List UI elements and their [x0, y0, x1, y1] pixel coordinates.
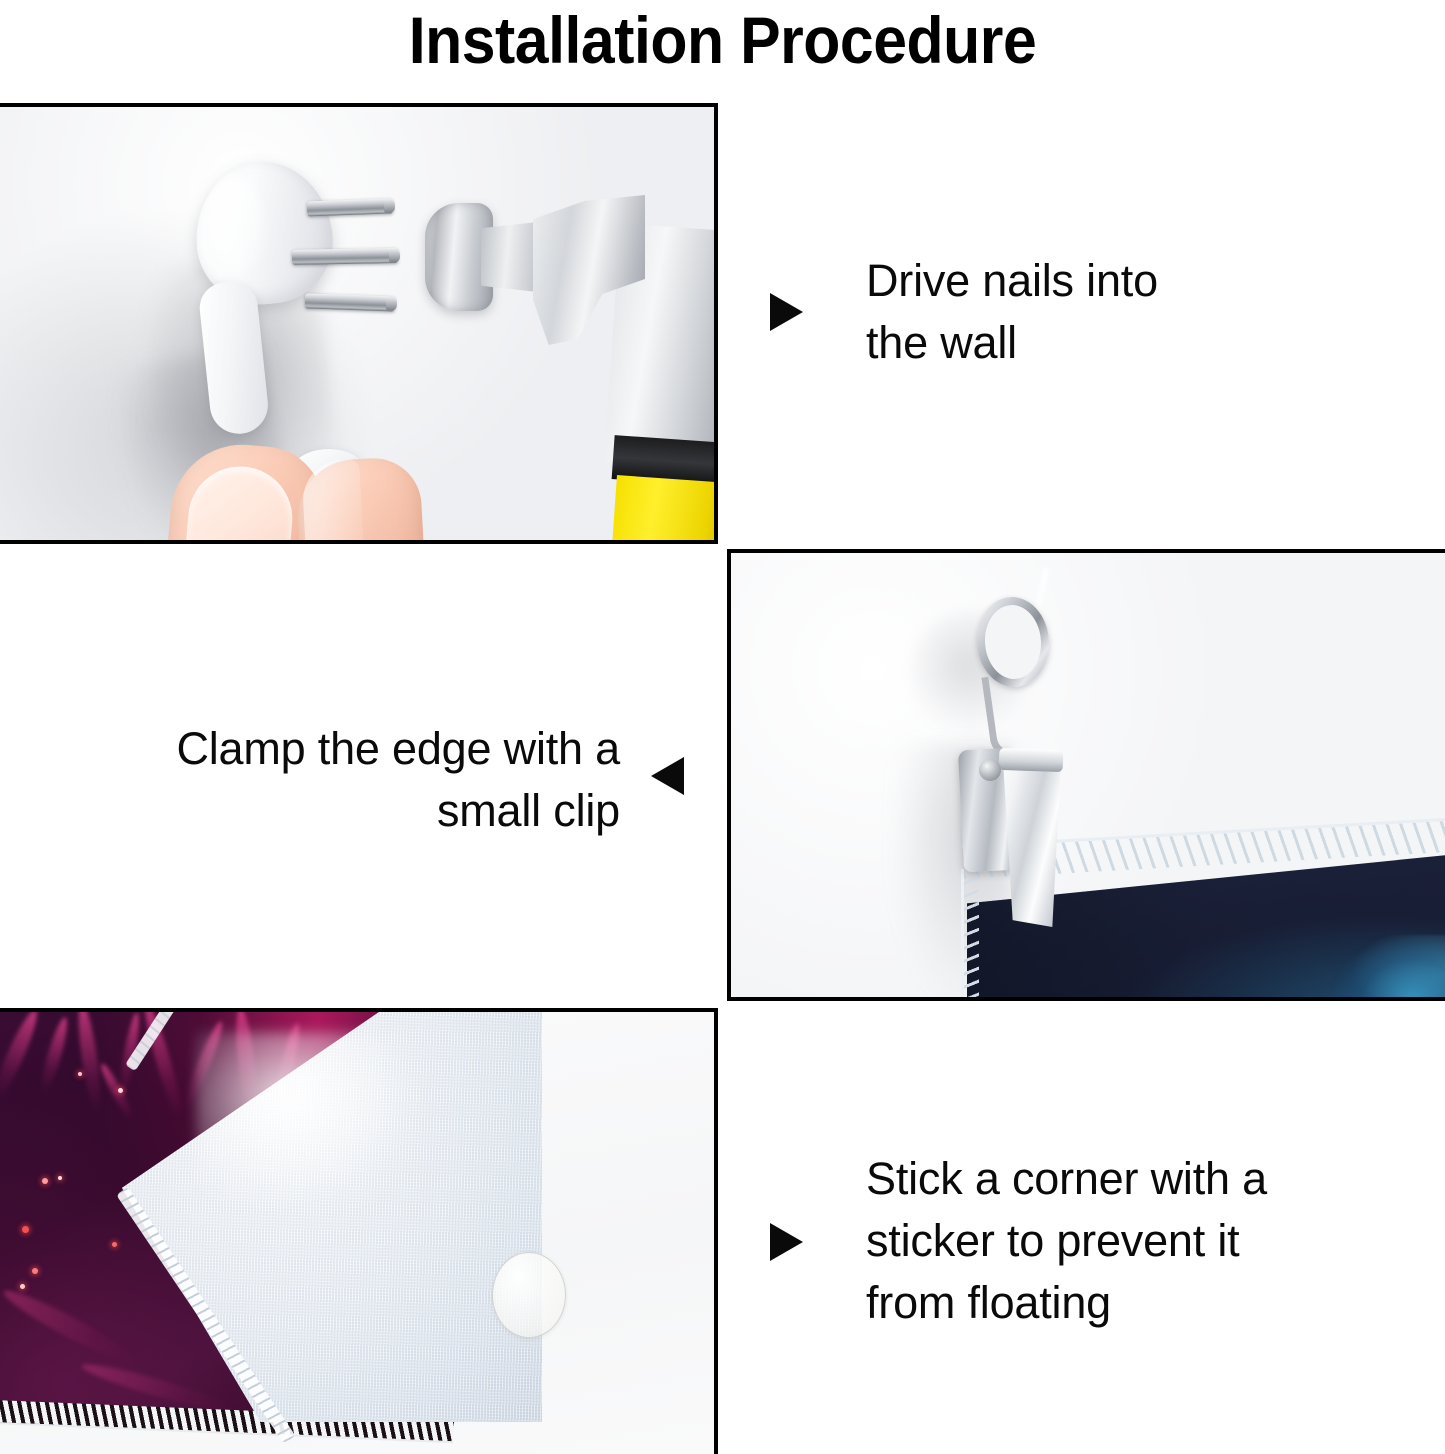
tapestry-stitched-hem-left [961, 869, 979, 997]
tapestry-light-speck [118, 1088, 123, 1093]
page-title: Installation Procedure [58, 2, 1387, 78]
tapestry-light-speck [112, 1242, 117, 1247]
triangle-right-icon [770, 293, 803, 331]
hook-nail-pin [305, 293, 395, 311]
step-caption-corner-sticker: Stick a corner with a sticker to prevent… [866, 1148, 1356, 1334]
tapestry-light-speck [32, 1268, 38, 1274]
triangle-left-icon [651, 757, 684, 795]
tapestry-light-speck [22, 1226, 29, 1233]
tapestry-magenta-swirl [0, 1283, 141, 1371]
adhesive-sticker [492, 1252, 566, 1338]
tapestry-light-speck [20, 1284, 25, 1289]
photo-clamp-clip [727, 549, 1445, 1001]
tapestry-light-speck [78, 1072, 82, 1076]
step-caption-drive-nails: Drive nails into the wall [866, 250, 1336, 374]
installation-procedure-infographic: Installation Procedure [0, 0, 1445, 1454]
hook-nail-pin [292, 248, 398, 265]
photo-drive-nails [0, 103, 718, 544]
clip-lever-top-edge [999, 748, 1064, 772]
photo-clamp-clip-content [731, 553, 1445, 997]
hammer-yellow-grip [611, 475, 714, 540]
tapestry-light-speck [58, 1176, 62, 1180]
photo-corner-sticker [0, 1008, 718, 1454]
tapestry-magenta-streak [74, 1012, 104, 1114]
tapestry-magenta-streak [0, 1012, 43, 1101]
clip-spring-pivot [979, 759, 1001, 781]
tapestry-light-speck [42, 1178, 48, 1184]
tapestry-magenta-streak [38, 1016, 72, 1095]
photo-drive-nails-content [0, 107, 714, 540]
step-caption-clamp-clip: Clamp the edge with a small clip [70, 718, 620, 842]
tapestry-teal-motif [1331, 935, 1445, 997]
triangle-right-icon [770, 1223, 803, 1261]
photo-corner-sticker-content [0, 1012, 714, 1454]
hook-nail-pin [307, 199, 393, 217]
hammer-head [425, 195, 643, 317]
tapestry-fold-highlight [196, 1032, 426, 1212]
